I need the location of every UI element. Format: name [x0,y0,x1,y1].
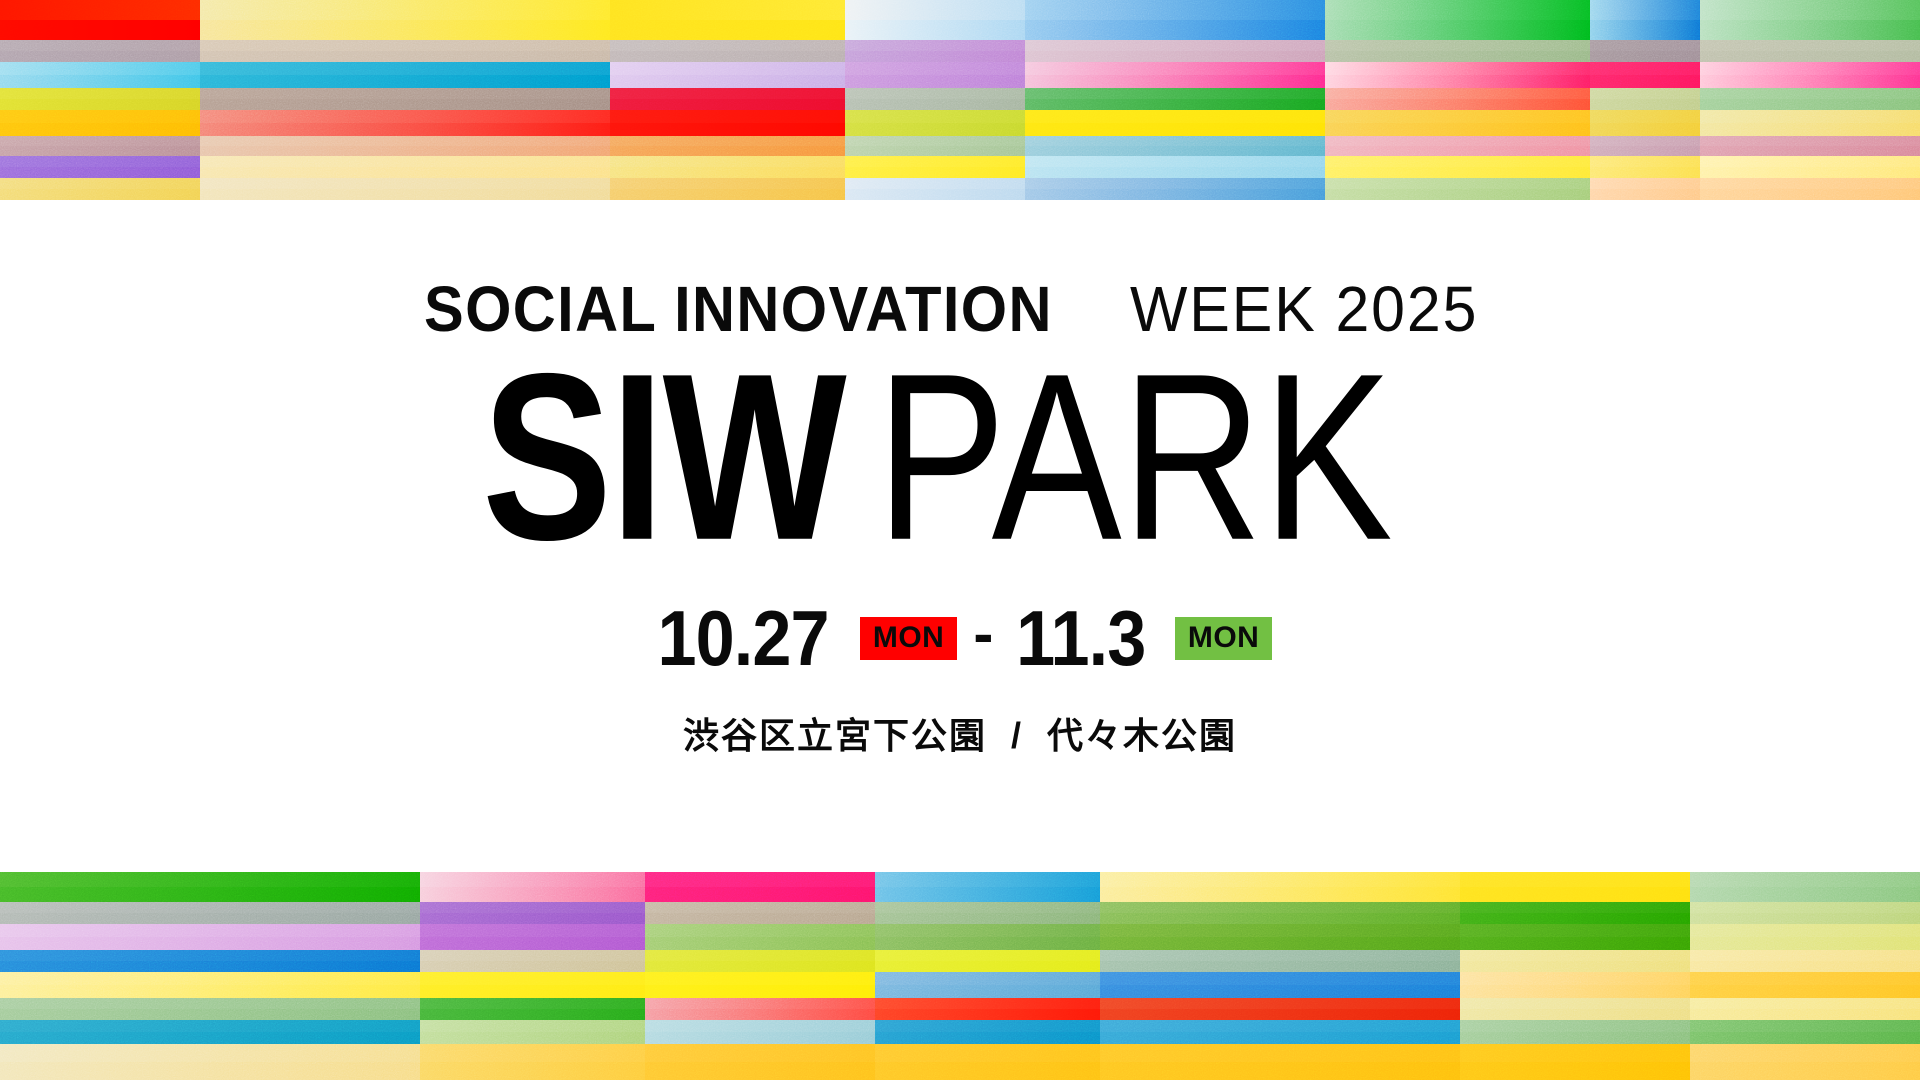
stripe-cell [1025,40,1325,62]
stripe-cell [610,156,845,178]
stripe-cell [0,902,420,924]
stripe-cell [875,924,1100,950]
stripe-cell [845,178,1025,200]
stripe-cell [610,0,845,40]
stripe-cell [875,902,1100,924]
stripe-cell [1590,178,1700,200]
end-day-badge: MON [1175,617,1273,660]
stripe-cell [610,178,845,200]
stripe-cell [845,62,1025,88]
stripe-cell [1025,0,1325,40]
stripe-cell [1700,88,1920,110]
stripe-cell [1460,1044,1690,1080]
stripe-cell [1700,156,1920,178]
stripe-cell [420,972,645,998]
stripe-cell [1590,156,1700,178]
stripe-cell [845,136,1025,156]
stripe-cell [0,88,200,110]
stripe-cell [875,1020,1100,1044]
stripe-cell [1325,110,1590,136]
stripe-cell [645,1020,875,1044]
venue-secondary: 代々木公園 [1047,715,1237,756]
stripe-cell [1325,178,1590,200]
title-siw: SIW [482,344,845,570]
stripe-cell [610,40,845,62]
start-day-badge: MON [860,617,958,660]
stripe-cell [1590,40,1700,62]
title-park: PARK [876,344,1393,570]
stripe-cell [1325,156,1590,178]
stripe-cell [845,40,1025,62]
stripe-cell [1460,950,1690,972]
stripe-cell [1590,136,1700,156]
start-date: 10.27 [657,599,828,677]
date-range-separator: - [973,604,993,664]
stripe-cell [1690,950,1920,972]
color-stripe-band-top [0,0,1920,200]
stripe-cell [1025,88,1325,110]
stripe-row [0,902,1920,924]
venue-separator: / [1011,715,1023,756]
stripe-cell [0,40,200,62]
venue-primary: 渋谷区立宮下公園 [683,715,987,756]
stripe-cell [0,156,200,178]
stripe-cell [845,110,1025,136]
event-venue: 渋谷区立宮下公園 / 代々木公園 [683,707,1237,759]
event-title: SIW PARK [482,368,1438,569]
stripe-cell [1025,62,1325,88]
stripe-cell [1460,924,1690,950]
stripe-cell [1460,902,1690,924]
stripe-cell [420,902,645,924]
stripe-cell [0,136,200,156]
stripe-rows-top [0,0,1920,200]
stripe-row [0,872,1920,902]
stripe-cell [0,950,420,972]
stripe-cell [1700,62,1920,88]
stripe-cell [0,0,200,40]
stripe-cell [845,0,1025,40]
stripe-cell [1460,1020,1690,1044]
stripe-row [0,998,1920,1020]
stripe-cell [1690,998,1920,1020]
stripe-cell [1700,110,1920,136]
stripe-cell [1590,62,1700,88]
stripe-cell [845,88,1025,110]
stripe-cell [1100,950,1460,972]
stripe-cell [1025,178,1325,200]
stripe-cell [420,998,645,1020]
color-stripe-band-bottom [0,872,1920,1080]
stripe-row [0,156,1920,178]
stripe-cell [1100,972,1460,998]
stripe-cell [200,156,610,178]
stripe-row [0,972,1920,998]
stripe-row [0,88,1920,110]
stripe-cell [420,924,645,950]
stripe-cell [200,40,610,62]
stripe-cell [1690,902,1920,924]
stripe-cell [1025,156,1325,178]
stripe-cell [0,872,420,902]
stripe-cell [1100,998,1460,1020]
stripe-cell [1325,40,1590,62]
stripe-cell [610,110,845,136]
stripe-row [0,40,1920,62]
stripe-cell [200,88,610,110]
stripe-cell [645,924,875,950]
stripe-cell [200,136,610,156]
stripe-cell [1590,110,1700,136]
stripe-cell [645,972,875,998]
stripe-cell [875,972,1100,998]
stripe-cell [1700,178,1920,200]
event-date-range: 10.27 MON - 11.3 MON [648,599,1273,677]
stripe-cell [645,902,875,924]
stripe-cell [0,110,200,136]
stripe-cell [1100,902,1460,924]
stripe-row [0,924,1920,950]
stripe-cell [0,998,420,1020]
stripe-cell [200,62,610,88]
stripe-cell [1700,0,1920,40]
stripe-cell [645,872,875,902]
stripe-row [0,110,1920,136]
stripe-cell [610,136,845,156]
stripe-cell [0,1044,420,1080]
end-date: 11.3 [1017,599,1146,677]
poster-content: SOCIAL INNOVATION WEEK 2025 SIW PARK 10.… [0,200,1920,872]
stripe-cell [1460,872,1690,902]
stripe-cell [645,950,875,972]
stripe-cell [1700,40,1920,62]
stripe-cell [1690,972,1920,998]
stripe-rows-bottom [0,872,1920,1080]
stripe-cell [1100,1044,1460,1080]
stripe-cell [1025,136,1325,156]
stripe-cell [645,1044,875,1080]
stripe-cell [1325,88,1590,110]
stripe-cell [1690,924,1920,950]
stripe-cell [1100,924,1460,950]
stripe-cell [420,1044,645,1080]
stripe-cell [1590,0,1700,40]
stripe-cell [0,924,420,950]
stripe-row [0,178,1920,200]
stripe-row [0,1020,1920,1044]
stripe-cell [1460,998,1690,1020]
stripe-cell [875,872,1100,902]
stripe-cell [420,950,645,972]
event-key-visual: SOCIAL INNOVATION WEEK 2025 SIW PARK 10.… [0,0,1920,1080]
stripe-cell [0,62,200,88]
stripe-cell [1325,0,1590,40]
stripe-cell [1590,88,1700,110]
stripe-cell [0,972,420,998]
stripe-cell [1325,62,1590,88]
stripe-cell [875,950,1100,972]
stripe-cell [0,1020,420,1044]
stripe-cell [200,178,610,200]
stripe-cell [1025,110,1325,136]
stripe-row [0,136,1920,156]
stripe-cell [1100,872,1460,902]
stripe-row [0,0,1920,40]
stripe-cell [1460,972,1690,998]
stripe-row [0,1044,1920,1080]
stripe-cell [610,62,845,88]
stripe-cell [0,178,200,200]
stripe-cell [875,1044,1100,1080]
stripe-row [0,950,1920,972]
stripe-cell [875,998,1100,1020]
stripe-cell [1690,1020,1920,1044]
stripe-cell [420,1020,645,1044]
stripe-cell [1700,136,1920,156]
stripe-cell [200,110,610,136]
stripe-cell [610,88,845,110]
stripe-cell [1325,136,1590,156]
stripe-cell [1690,872,1920,902]
stripe-cell [420,872,645,902]
stripe-cell [1100,1020,1460,1044]
stripe-cell [1690,1044,1920,1080]
stripe-cell [200,0,610,40]
stripe-cell [845,156,1025,178]
stripe-row [0,62,1920,88]
stripe-cell [645,998,875,1020]
